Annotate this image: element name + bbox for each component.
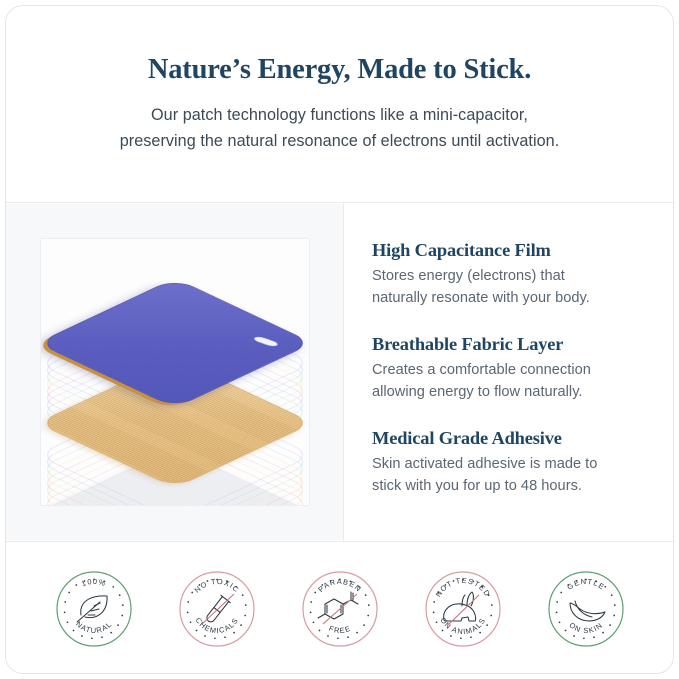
patch-layers-diagram [40,238,310,506]
feature-breathable-fabric-layer: Breathable Fabric Layer Creates a comfor… [372,334,647,403]
badge-bottom-text: ON SKIN [567,620,604,635]
feature-medical-grade-adhesive: Medical Grade Adhesive Skin activated ad… [372,428,647,497]
header-section: Nature’s Energy, Made to Stick. Our patc… [6,6,673,203]
badge-top-text: NOT TESTED [433,575,492,598]
features-panel: High Capacitance Film Stores energy (ele… [344,204,673,540]
feature-title: High Capacitance Film [372,240,647,261]
feature-high-capacitance-film: High Capacitance Film Stores energy (ele… [372,240,647,309]
slash-icon [202,594,234,624]
badge-bottom-text: NATURAL [74,619,114,635]
slash-icon [323,594,357,624]
feature-desc-line: allowing energy to flow naturally. [372,382,647,404]
feature-title: Medical Grade Adhesive [372,428,647,449]
feature-desc-line: naturally resonate with your body. [372,288,647,310]
trust-badges-row: 100% NATURAL [6,541,673,674]
badge-top-text: GENTLE [565,576,606,591]
badge-bottom-text: FREE [327,623,352,635]
molecule-icon [318,592,358,619]
rabbit-icon [443,592,475,621]
feature-desc-line: Skin activated adhesive is made to [372,454,647,476]
diagram-layer-film [40,278,310,408]
badge-natural: 100% NATURAL [55,570,133,648]
subtitle-line-2: preserving the natural resonance of elec… [120,128,560,154]
badge-not-tested-on-animals: NOT TESTED ON ANIMALS [424,570,502,648]
badge-top-text: 100% [80,576,107,588]
subtitle-line-1: Our patch technology functions like a mi… [151,102,528,128]
brand-logo-icon [252,336,278,347]
content-split: High Capacitance Film Stores energy (ele… [6,204,673,540]
badge-gentle-on-skin: GENTLE ON SKIN [547,570,625,648]
feather-icon [570,601,605,621]
page-title: Nature’s Energy, Made to Stick. [148,54,531,85]
leaf-icon [77,595,107,621]
badge-no-toxic-chemicals: NO TOXIC CHEMICALS [178,570,256,648]
feature-desc-line: stick with you for up to 48 hours. [372,476,647,498]
infographic-card: Nature’s Energy, Made to Stick. Our patc… [5,5,674,674]
badge-paraben-free: PARABEN FREE [301,570,379,648]
diagram-panel [6,204,344,540]
feature-title: Breathable Fabric Layer [372,334,647,355]
feature-desc-line: Stores energy (electrons) that [372,266,647,288]
badge-top-text: PARABEN [316,576,363,593]
feature-desc-line: Creates a comfortable connection [372,360,647,382]
